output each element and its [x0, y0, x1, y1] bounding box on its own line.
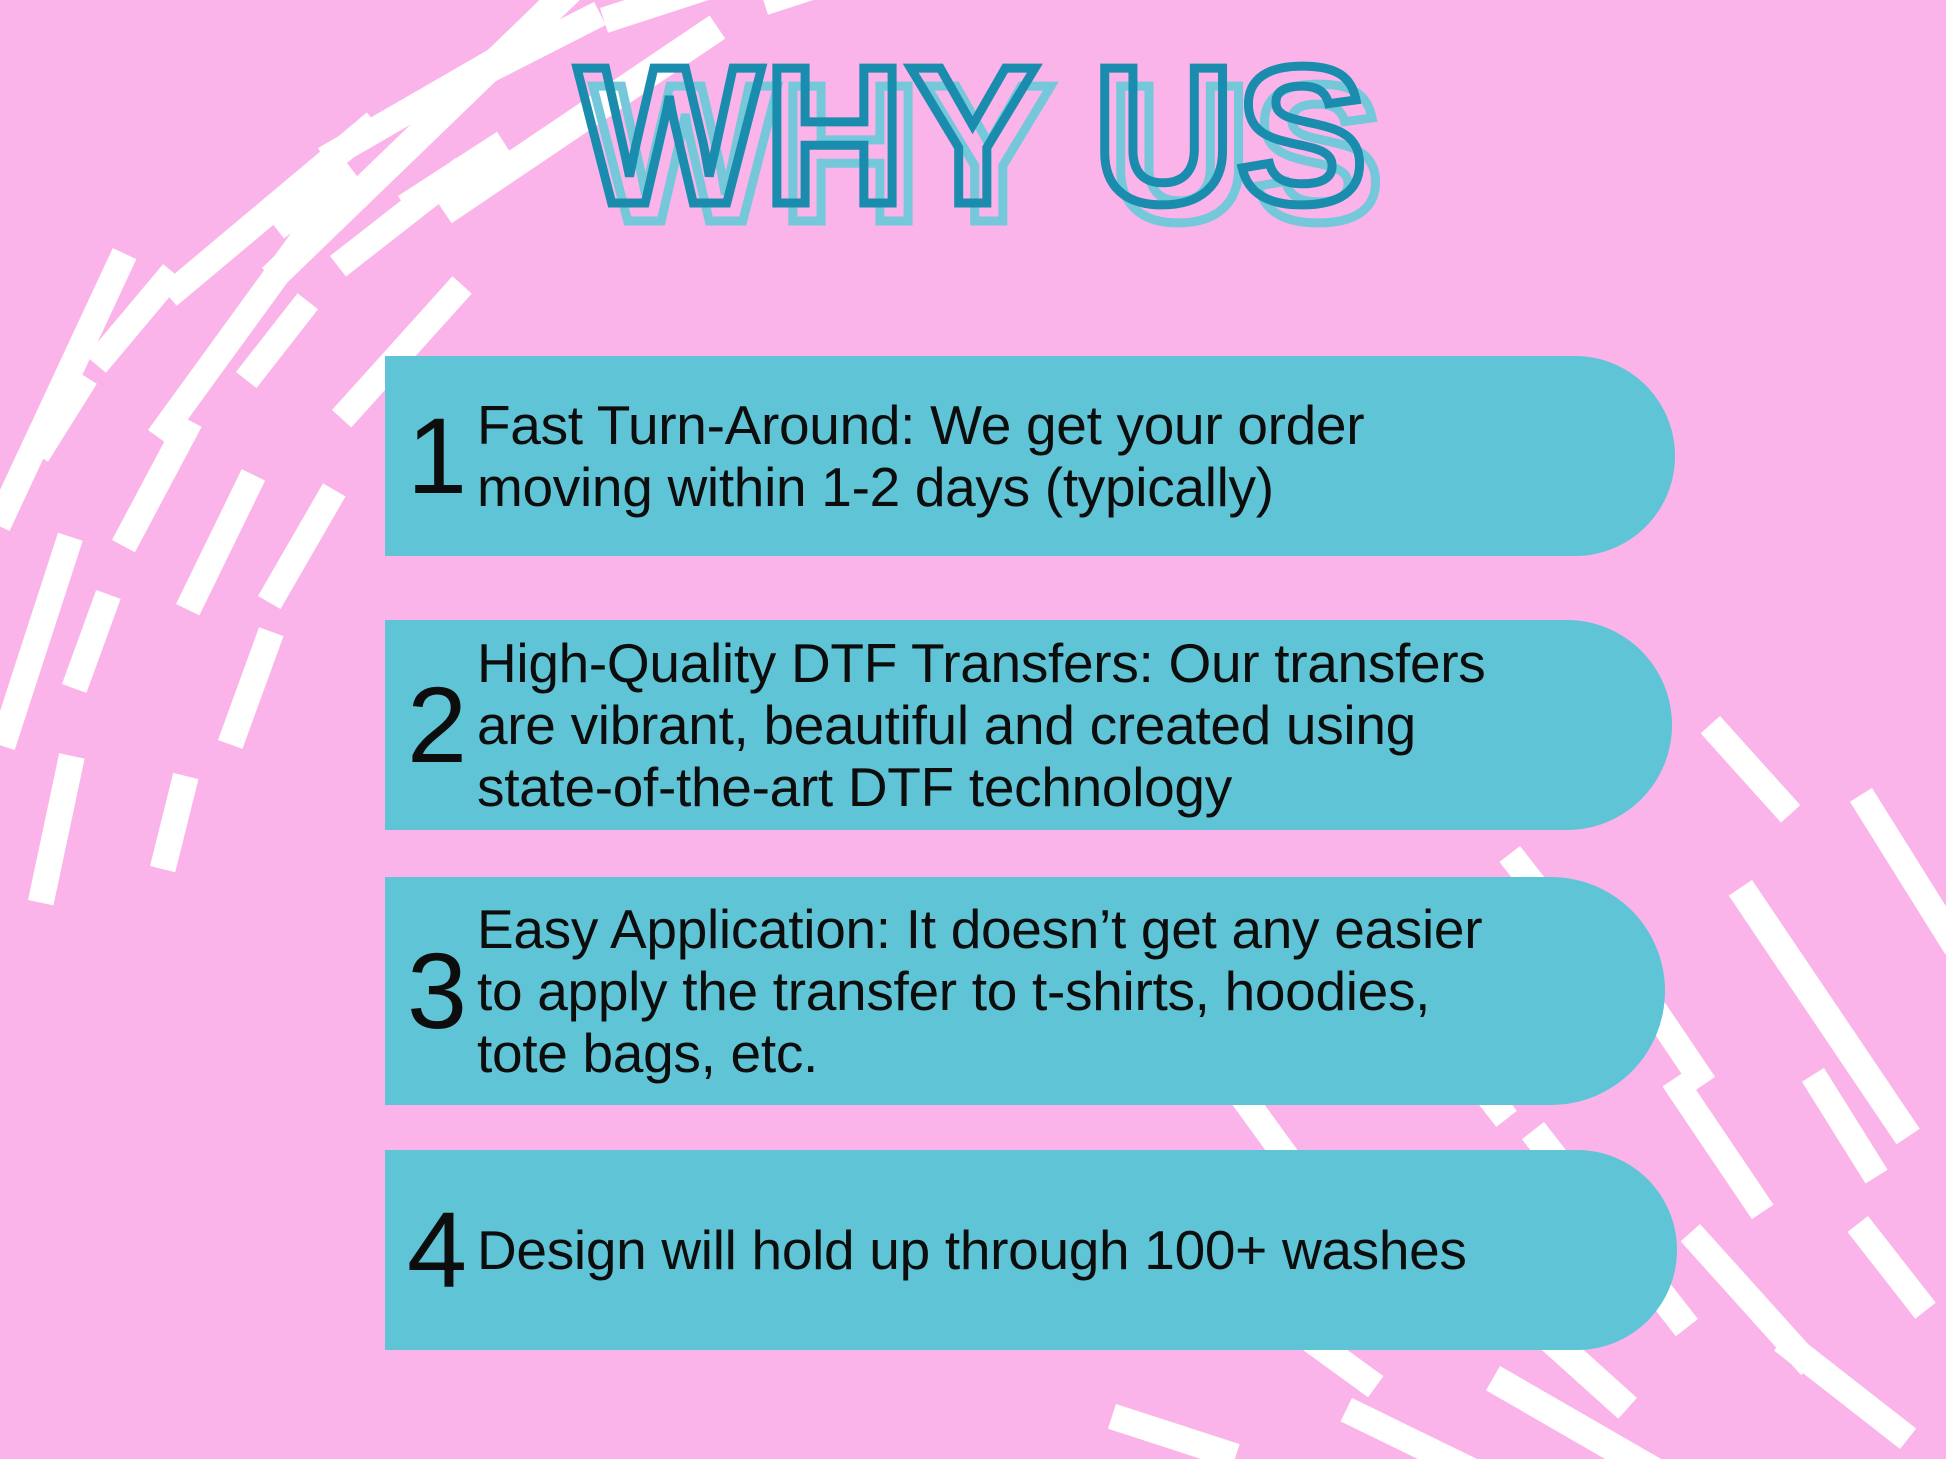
benefit-card-4: 4 Design will hold up through 100+ washe… [385, 1150, 1677, 1350]
benefit-line: High-Quality DTF Transfers: Our transfer… [477, 632, 1632, 694]
page-title: WHY US WHY US [0, 38, 1946, 238]
poster-canvas: WHY US WHY US 1 Fast Turn-Around: We get… [0, 0, 1946, 1459]
benefit-line: Design will hold up through 100+ washes [477, 1219, 1637, 1281]
benefit-line: to apply the transfer to t-shirts, hoodi… [477, 960, 1625, 1022]
benefit-text-4: Design will hold up through 100+ washes [477, 1219, 1677, 1281]
benefit-line: Fast Turn-Around: We get your order [477, 394, 1635, 456]
benefit-line: are vibrant, beautiful and created using [477, 694, 1632, 756]
benefit-card-2: 2 High-Quality DTF Transfers: Our transf… [385, 620, 1672, 830]
benefit-number-2: 2 [385, 671, 477, 779]
benefit-text-2: High-Quality DTF Transfers: Our transfer… [477, 632, 1672, 818]
benefit-line: moving within 1-2 days (typically) [477, 456, 1635, 518]
page-title-text: WHY US [0, 38, 1946, 234]
benefit-line: tote bags, etc. [477, 1022, 1625, 1084]
benefit-number-1: 1 [385, 402, 477, 510]
benefit-card-3: 3 Easy Application: It doesn’t get any e… [385, 877, 1665, 1105]
benefit-text-3: Easy Application: It doesn’t get any eas… [477, 898, 1665, 1084]
benefit-number-3: 3 [385, 937, 477, 1045]
benefit-line: state-of-the-art DTF technology [477, 756, 1632, 818]
benefit-card-1: 1 Fast Turn-Around: We get your order mo… [385, 356, 1675, 556]
benefit-number-4: 4 [385, 1196, 477, 1304]
benefit-line: Easy Application: It doesn’t get any eas… [477, 898, 1625, 960]
benefit-text-1: Fast Turn-Around: We get your order movi… [477, 394, 1675, 518]
